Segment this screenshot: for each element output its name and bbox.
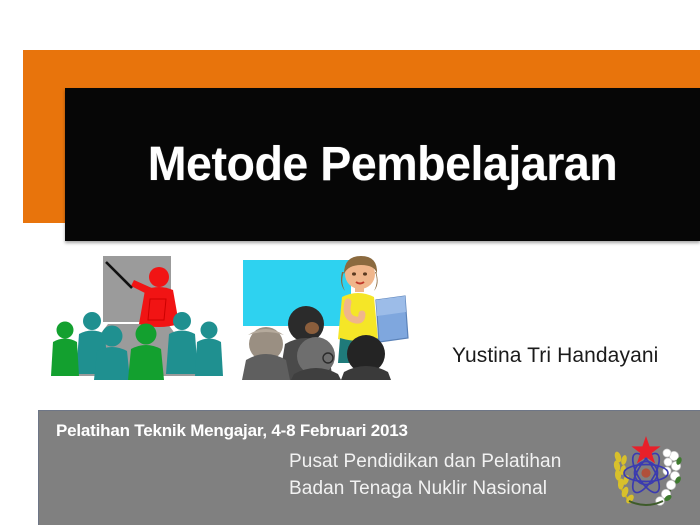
footer-bar: Pelatihan Teknik Mengajar, 4-8 Februari … bbox=[38, 410, 700, 525]
batan-logo bbox=[605, 429, 687, 511]
presentation-slide: Metode Pembelajaran bbox=[0, 0, 700, 525]
page-title: Metode Pembelajaran bbox=[75, 88, 691, 241]
footer-institution-line: Badan Tenaga Nuklir Nasional bbox=[289, 478, 547, 500]
author-name: Yustina Tri Handayani bbox=[452, 344, 658, 368]
meeting-presentation-clipart bbox=[238, 252, 416, 380]
classroom-lecture-clipart bbox=[46, 252, 231, 380]
footer-event-line: Pelatihan Teknik Mengajar, 4-8 Februari … bbox=[56, 421, 408, 441]
footer-organization-line: Pusat Pendidikan dan Pelatihan bbox=[289, 451, 561, 473]
title-plate: Metode Pembelajaran bbox=[65, 88, 700, 241]
